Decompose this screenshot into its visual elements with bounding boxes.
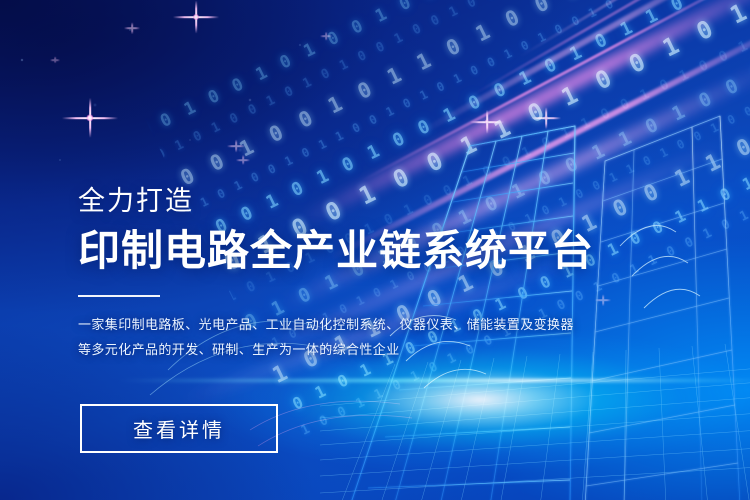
- hero-description-line-2: 等多元化产品的开发、研制、生产为一体的综合性企业: [78, 337, 638, 362]
- hero-headline: 印制电路全产业链系统平台: [78, 229, 698, 273]
- hero-banner: 1 0 0 1 0 0 1 0 1 0 0 1 0 1 1 0 0 1 0 1 …: [0, 0, 750, 500]
- hero-divider: [78, 295, 160, 297]
- sparkle-star-icon: [62, 90, 118, 146]
- hero-description: 一家集印制电路板、光电产品、工业自动化控制系统、仪器仪表、储能装置及变换器 等多…: [78, 312, 638, 363]
- hero-copy: 全力打造 印制电路全产业链系统平台 一家集印制电路板、光电产品、工业自动化控制系…: [78, 188, 698, 362]
- view-details-button[interactable]: 查看详情: [80, 404, 278, 453]
- hero-description-line-1: 一家集印制电路板、光电产品、工业自动化控制系统、仪器仪表、储能装置及变换器: [78, 312, 638, 337]
- hero-eyebrow: 全力打造: [78, 188, 698, 215]
- horizon-glow-line: [120, 379, 750, 382]
- sparkle-star-icon: [50, 55, 60, 65]
